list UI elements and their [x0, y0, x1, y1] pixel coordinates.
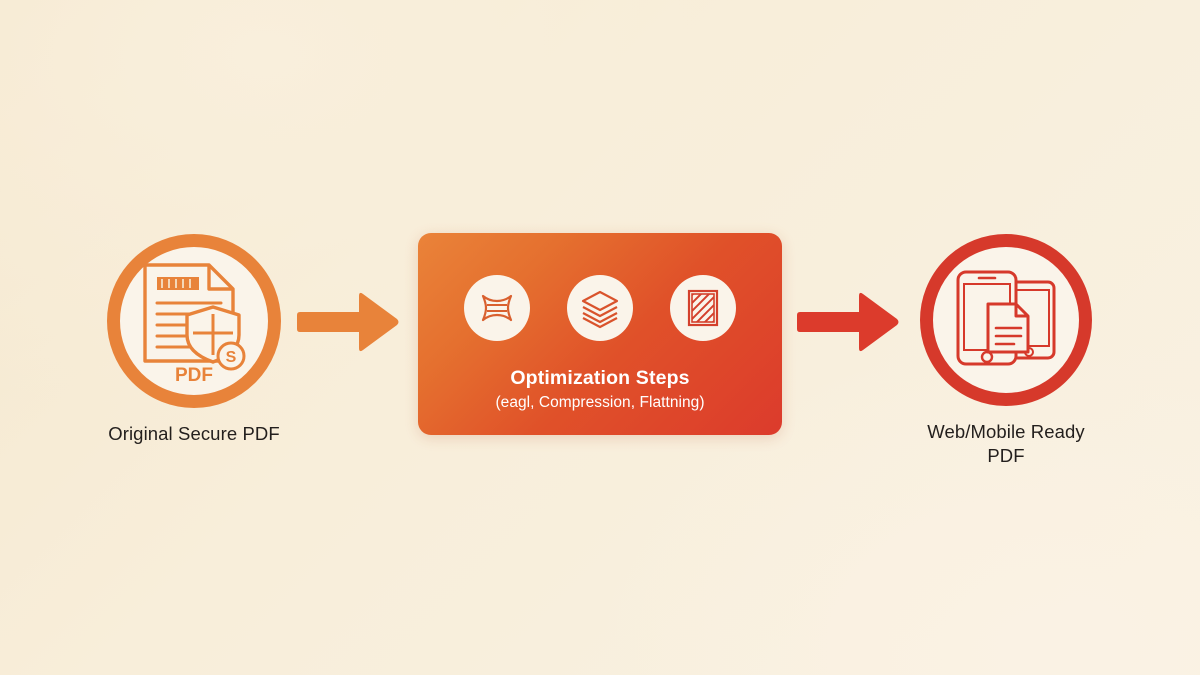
pdf-badge-text: PDF: [175, 365, 213, 385]
panel-caption: Optimization Steps (eagl, Compression, F…: [495, 367, 704, 413]
source-node-label: Original Secure PDF: [108, 422, 280, 446]
svg-text:S: S: [226, 349, 237, 366]
step-badge-flattning[interactable]: [670, 275, 736, 341]
node-web-mobile-ready-pdf[interactable]: Web/Mobile Ready PDF: [918, 234, 1094, 467]
target-node-label: Web/Mobile Ready PDF: [927, 420, 1085, 467]
step-badge-compression[interactable]: [567, 275, 633, 341]
mobile-devices-document-icon: [948, 264, 1064, 376]
diagram-canvas: S PDF Original Secure PDF: [0, 0, 1200, 675]
node-original-secure-pdf[interactable]: S PDF Original Secure PDF: [105, 234, 283, 446]
panel-title: Optimization Steps: [495, 367, 704, 390]
optimization-step-icons: [464, 275, 736, 341]
arrow-right: [797, 290, 901, 354]
panel-subtitle: (eagl, Compression, Flattning): [495, 394, 704, 413]
arrow-left: [297, 290, 401, 354]
step-badge-eagl[interactable]: [464, 275, 530, 341]
source-ring: S PDF: [107, 234, 281, 408]
layers-icon: [579, 287, 621, 329]
compress-icon: [476, 287, 518, 329]
target-ring: [920, 234, 1092, 406]
optimization-steps-panel[interactable]: Optimization Steps (eagl, Compression, F…: [418, 233, 782, 435]
secure-pdf-document-icon: S PDF: [135, 257, 253, 385]
flatten-hatch-icon: [682, 287, 724, 329]
